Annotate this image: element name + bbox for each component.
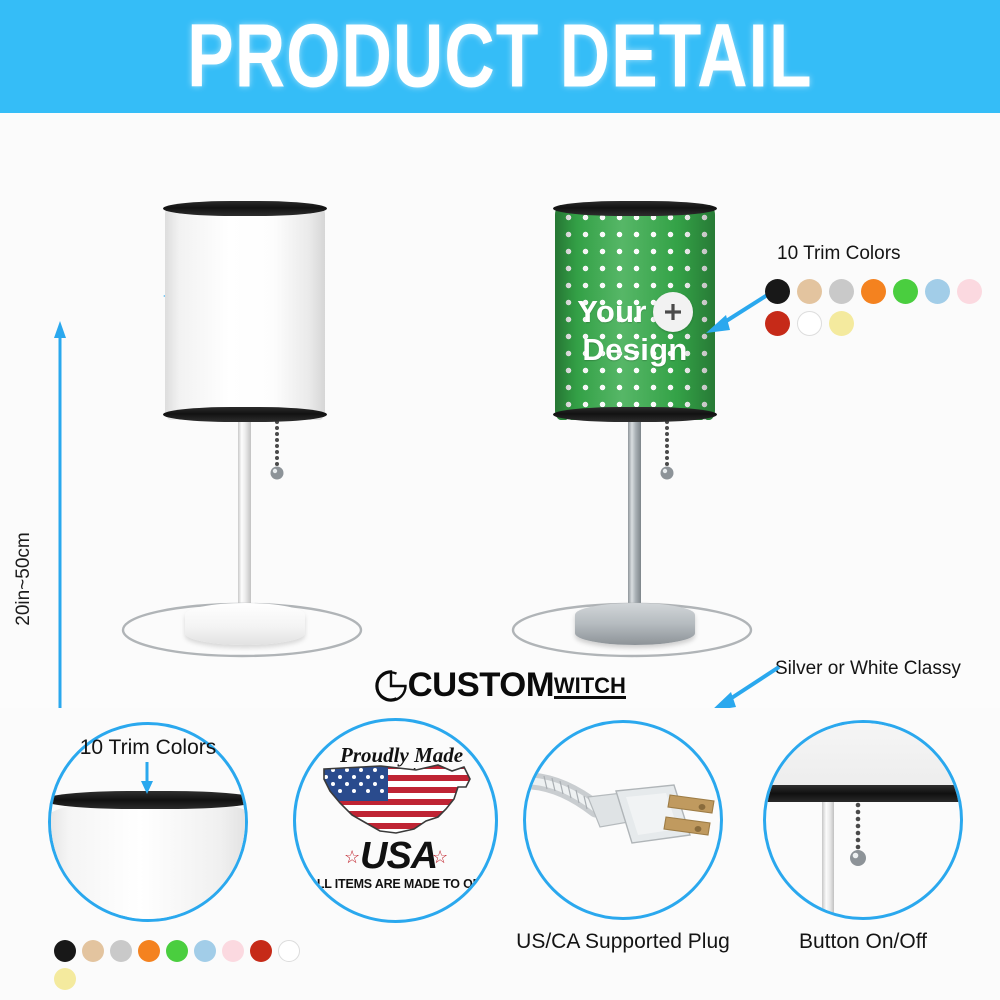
lamp-white-shade [165, 205, 325, 420]
your-design-word-design: Design [582, 332, 687, 368]
bottom-swatch-orange[interactable] [138, 940, 160, 962]
your-design-line-1: Your [577, 292, 693, 332]
main-stage: 7in~18cm 20in~50cm [0, 113, 1000, 660]
plug-panel-label: US/CA Supported Plug [498, 930, 748, 954]
trim-colors-swatches [765, 279, 1000, 336]
lamp-green-base [575, 603, 695, 645]
swatch-gray[interactable] [829, 279, 854, 304]
lamp-white-shade-surface [165, 205, 325, 420]
lamp-white-bottom-trim [163, 407, 327, 422]
lamp-green-top-trim [553, 201, 717, 216]
brand-logo: CUSTOM WITCH [0, 662, 1000, 708]
lamp-white-pull-chain[interactable] [266, 418, 288, 480]
swatch-orange[interactable] [861, 279, 886, 304]
bottom-swatch-tan[interactable] [82, 940, 104, 962]
page-title: PRODUCT DETAIL [187, 5, 812, 108]
trim-colors-panel-caption: 10 Trim Colors [48, 736, 248, 760]
product-detail-page: PRODUCT DETAIL 7in~18cm 20in~50cm [0, 0, 1000, 1000]
switch-pole [822, 802, 834, 917]
bottom-swatch-black[interactable] [54, 940, 76, 962]
lamp-green-bottom-trim [553, 407, 717, 422]
swatch-light-blue[interactable] [925, 279, 950, 304]
trim-colors-panel-arrow [136, 762, 158, 794]
bottom-swatch-gray[interactable] [110, 940, 132, 962]
swatch-green[interactable] [893, 279, 918, 304]
your-design-overlay: Your Design [555, 292, 715, 368]
lamp-green-pull-chain[interactable] [656, 418, 678, 480]
switch-circle [763, 720, 963, 920]
usa-map-flag-icon [318, 757, 480, 839]
logo-witch-block: WITCH [554, 671, 626, 699]
logo-witch-text: WITCH [554, 674, 626, 697]
header-banner: PRODUCT DETAIL [0, 0, 1000, 113]
swatch-pink[interactable] [957, 279, 982, 304]
lamp-white-base [185, 603, 305, 645]
height-dimension-label: 20in~50cm [13, 519, 35, 639]
usa-star-right-icon: ☆ [432, 847, 448, 868]
your-design-line-2: Design [582, 332, 687, 368]
power-plug-icon [530, 757, 723, 887]
switch-panel-label: Button On/Off [763, 930, 963, 954]
trim-colors-shade-surface [48, 797, 248, 922]
logo-custom-text: CUSTOM [408, 666, 555, 705]
usa-word-text: USA [360, 835, 437, 878]
swatch-yellow[interactable] [829, 311, 854, 336]
trim-colors-heading: 10 Trim Colors [777, 243, 901, 265]
lamp-white-pole [238, 418, 251, 614]
switch-pull-chain[interactable] [846, 801, 870, 869]
swatch-white[interactable] [797, 311, 822, 336]
lamp-white-top-trim [163, 201, 327, 216]
swatch-black[interactable] [765, 279, 790, 304]
made-in-usa-circle: Proudly Made in the [293, 718, 498, 923]
plug-circle [523, 720, 723, 920]
lamp-green-pole [628, 418, 641, 614]
lamp-green-shade: Your Design [555, 205, 715, 420]
bottom-swatch-white[interactable] [278, 940, 300, 962]
bottom-swatch-red[interactable] [250, 940, 272, 962]
add-design-plus-icon[interactable] [653, 292, 693, 332]
bottom-swatch-yellow[interactable] [54, 968, 76, 990]
feature-panels: 10 Trim Colors Proudly Made in the [0, 708, 1000, 1000]
switch-shade-trim [763, 785, 963, 802]
bottom-swatch-pink[interactable] [222, 940, 244, 962]
your-design-word-your: Your [577, 294, 647, 330]
swatch-tan[interactable] [797, 279, 822, 304]
bottom-trim-swatches [54, 940, 304, 990]
switch-shade-surface [763, 720, 963, 793]
bottom-swatch-light-blue[interactable] [194, 940, 216, 962]
logo-c-icon [374, 669, 408, 703]
bottom-swatch-green[interactable] [166, 940, 188, 962]
usa-tagline-text: ALL ITEMS ARE MADE TO ORDER! [308, 877, 498, 891]
swatch-red[interactable] [765, 311, 790, 336]
usa-star-left-icon: ☆ [344, 847, 360, 868]
